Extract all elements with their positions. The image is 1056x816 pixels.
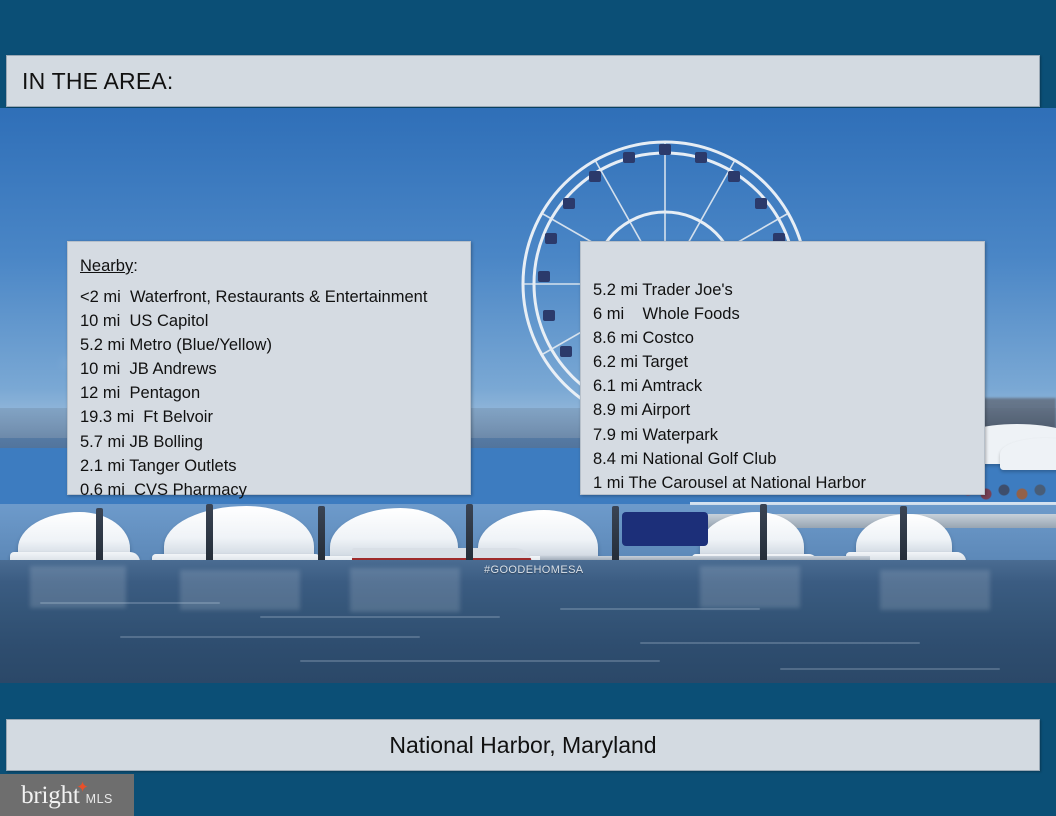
bright-mls-logo: bright ✦ MLS (0, 774, 134, 816)
list-item: 7.9 mi Waterpark (593, 423, 984, 447)
list-item: 5.2 mi Trader Joe's (593, 278, 984, 302)
list-item: 8.4 mi National Golf Club (593, 447, 984, 471)
bright-wordmark: bright (21, 783, 80, 808)
slide-root: IN THE AREA: (0, 0, 1056, 816)
list-item: 8.6 mi Costco (593, 326, 984, 350)
nearby-heading: Nearby: (80, 254, 470, 278)
list-item: 12 mi Pentagon (80, 381, 470, 405)
water-ripple (40, 602, 220, 604)
star-icon: ✦ (76, 780, 89, 795)
list-item: 10 mi US Capitol (80, 309, 470, 333)
water-ripple (260, 616, 500, 618)
list-item: 0.6 mi CVS Pharmacy (80, 478, 470, 502)
mls-wordmark: MLS (86, 793, 113, 806)
blue-boat-canopy (622, 512, 708, 546)
list-item: 19.3 mi Ft Belvoir (80, 405, 470, 429)
nearby-heading-label: Nearby (80, 257, 133, 275)
nearby-heading-colon: : (133, 257, 138, 275)
list-item: 5.7 mi JB Bolling (80, 430, 470, 454)
water-ripple (780, 668, 1000, 670)
water-ripple (120, 636, 420, 638)
list-item: 6 mi Whole Foods (593, 302, 984, 326)
water-ripple (560, 608, 760, 610)
list-item: 6.2 mi Target (593, 350, 984, 374)
water-ripple (640, 642, 920, 644)
water-ripple (300, 660, 660, 662)
photo-watermark: #GOODEHOMESA (484, 564, 584, 576)
list-item: 2.1 mi Tanger Outlets (80, 454, 470, 478)
page-title: IN THE AREA: (7, 68, 174, 95)
nearby-info-box: Nearby: <2 mi Waterfront, Restaurants & … (67, 241, 471, 495)
list-item: 1 mi The Carousel at National Harbor (593, 471, 984, 495)
water-reflection (350, 568, 460, 612)
location-caption: National Harbor, Maryland (389, 732, 656, 759)
list-item: 8.9 mi Airport (593, 398, 984, 422)
water-reflection (180, 570, 300, 610)
list-item: 10 mi JB Andrews (80, 357, 470, 381)
water-reflection (700, 566, 800, 608)
header-bar: IN THE AREA: (6, 55, 1040, 107)
caption-bar: National Harbor, Maryland (6, 719, 1040, 771)
list-item: 6.1 mi Amtrack (593, 374, 984, 398)
list-item: 5.2 mi Metro (Blue/Yellow) (80, 333, 470, 357)
amenities-info-box: 5.2 mi Trader Joe's 6 mi Whole Foods 8.6… (580, 241, 985, 495)
list-item: <2 mi Waterfront, Restaurants & Entertai… (80, 285, 470, 309)
water-reflection (880, 570, 990, 610)
